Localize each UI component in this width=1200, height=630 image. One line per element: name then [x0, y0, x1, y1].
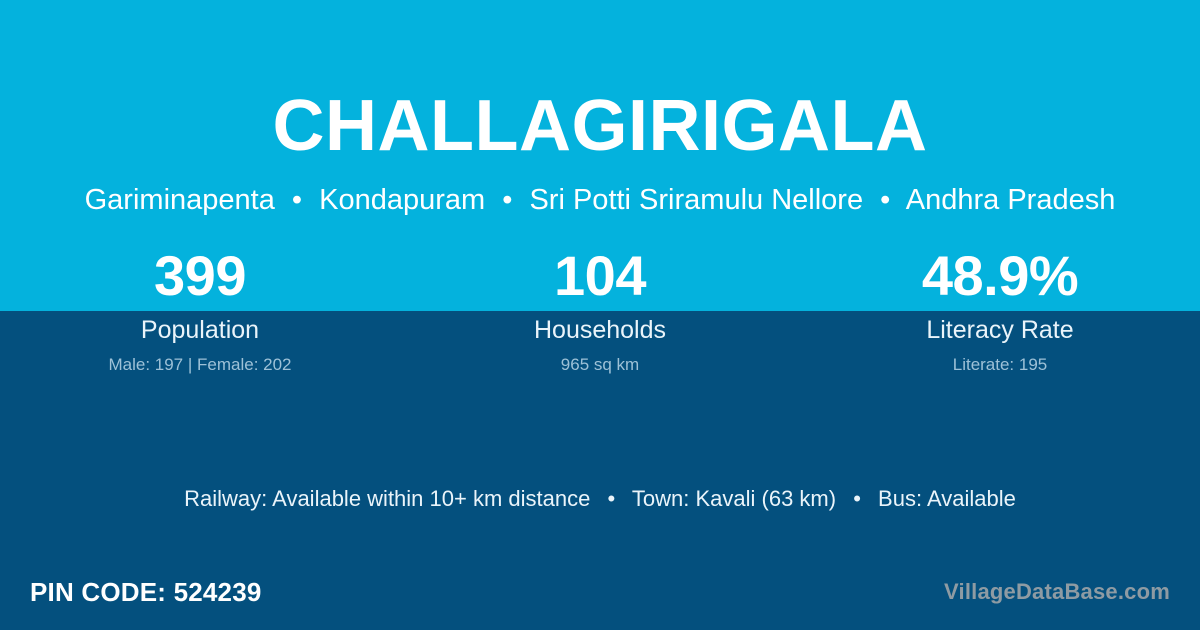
page-title: CHALLAGIRIGALA — [0, 84, 1200, 168]
pin-code: PIN CODE: 524239 — [30, 577, 262, 607]
stat-label-literacy-rate: Literacy Rate — [800, 316, 1200, 344]
breadcrumb-separator: • — [292, 182, 302, 218]
stat-population: 399 Population Male: 197 | Female: 202 — [0, 245, 400, 375]
village-info-card: CHALLAGIRIGALA Gariminapenta • Kondapura… — [0, 0, 1200, 630]
stat-sub-households: 965 sq km — [400, 355, 800, 375]
transport-item-town: Town: Kavali (63 km) — [632, 486, 836, 511]
breadcrumb-item-1: Kondapuram — [319, 184, 485, 216]
transport-item-bus: Bus: Available — [878, 486, 1016, 511]
breadcrumb-item-3: Andhra Pradesh — [906, 184, 1116, 216]
breadcrumb-item-0: Gariminapenta — [85, 184, 275, 216]
site-watermark: VillageDataBase.com — [944, 579, 1170, 605]
stat-literacy-rate: 48.9% Literacy Rate Literate: 195 — [800, 245, 1200, 375]
breadcrumb: Gariminapenta • Kondapuram • Sri Potti S… — [0, 182, 1200, 218]
transport-item-railway: Railway: Available within 10+ km distanc… — [184, 486, 590, 511]
transport-separator: • — [853, 484, 861, 514]
transport-info: Railway: Available within 10+ km distanc… — [0, 484, 1200, 514]
stat-value-households: 104 — [400, 245, 800, 307]
stats-row: 399 Population Male: 197 | Female: 202 1… — [0, 245, 1200, 375]
stat-value-population: 399 — [0, 245, 400, 307]
stat-sub-literacy-rate: Literate: 195 — [800, 355, 1200, 375]
stat-value-literacy-rate: 48.9% — [800, 245, 1200, 307]
stat-label-households: Households — [400, 316, 800, 344]
breadcrumb-separator: • — [880, 182, 890, 218]
transport-separator: • — [607, 484, 615, 514]
stat-households: 104 Households 965 sq km — [400, 245, 800, 375]
stat-sub-population: Male: 197 | Female: 202 — [0, 355, 400, 375]
breadcrumb-separator: • — [502, 182, 512, 218]
breadcrumb-item-2: Sri Potti Sriramulu Nellore — [529, 184, 863, 216]
footer: PIN CODE: 524239 VillageDataBase.com — [0, 554, 1200, 630]
stat-label-population: Population — [0, 316, 400, 344]
